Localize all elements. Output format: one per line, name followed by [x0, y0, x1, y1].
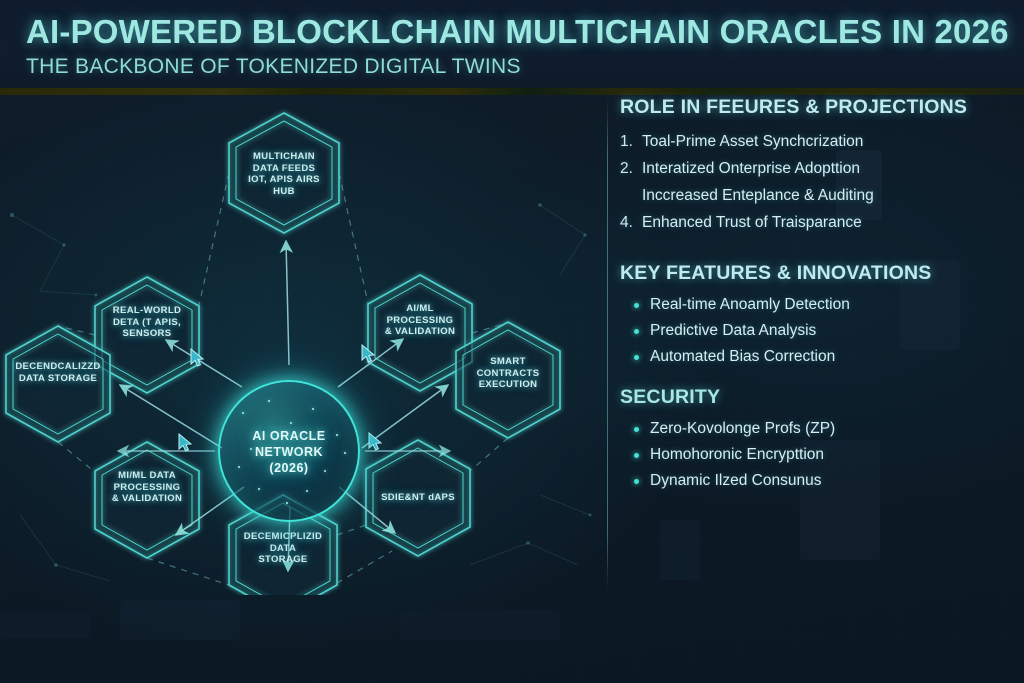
list-item: Zero-Kovolonge Profs (ZP) — [634, 416, 1020, 442]
header-banner: AI-POWERED BLOCKLCHAIN MULTICHAIN ORACLE… — [0, 0, 1024, 90]
panel-divider — [607, 98, 608, 590]
list-item: Real-time Anoamly Detection — [634, 292, 1020, 318]
list-item: Homohoronic Encrypttion — [634, 442, 1020, 468]
list-number: 2. — [620, 155, 642, 182]
list-text: Inccreased Enteplance & Auditing — [642, 187, 874, 204]
hexagon-outlines — [6, 113, 560, 595]
central-oracle-node[interactable]: AI ORACLE NETWORK (2026) — [218, 380, 360, 522]
hex-multichain-data-feeds — [229, 113, 339, 233]
list-text: Interatized Onterprise Adopttion — [642, 160, 860, 177]
security-list: Zero-Kovolonge Profs (ZP) Homohoronic En… — [634, 416, 1020, 494]
dashed-link — [337, 525, 366, 535]
list-text: Enhanced Trust of Traisparance — [642, 214, 862, 231]
hex-sdk-dapps — [366, 440, 470, 556]
page-subtitle: THE BACKBONE OF TOKENIZED DIGITAL TWINS — [26, 55, 1024, 79]
list-text: Toal-Prime Asset Synchcrization — [642, 133, 863, 150]
list-item: 1.Toal-Prime Asset Synchcrization — [620, 128, 1020, 155]
list-item: Predictive Data Analysis — [634, 318, 1020, 344]
header-accent-band — [0, 88, 1024, 95]
dashed-link — [147, 558, 229, 585]
hex-ml-data-processing — [95, 442, 199, 558]
core-label-line: (2026) — [220, 460, 358, 476]
list-number: 4. — [620, 209, 642, 236]
dashed-link — [470, 438, 508, 471]
list-number: 1. — [620, 128, 642, 155]
details-panel: ROLE IN FEEURES & PROJECTIONS 1.Toal-Pri… — [620, 96, 1020, 494]
dashed-link — [339, 173, 368, 303]
connector-core-to-left — [120, 385, 222, 448]
oracle-network-diagram: MULTICHAIN DATA FEEDS IOT, APIS AIRS HUB… — [0, 95, 608, 595]
section-heading-features: KEY FEATURES & INNOVATIONS — [620, 262, 1020, 285]
list-item: 4.Enhanced Trust of Traisparance — [620, 209, 1020, 236]
list-item: Inccreased Enteplance & Auditing — [620, 182, 1020, 209]
connector-core-to-top — [286, 241, 289, 365]
list-item: Automated Bias Correction — [634, 344, 1020, 370]
bg-blotch — [660, 520, 700, 580]
footer: Web3 Ecosystem Projected Market Impact: … — [0, 596, 1024, 683]
dashed-link — [58, 442, 96, 473]
section-heading-role: ROLE IN FEEURES & PROJECTIONS — [620, 96, 1020, 119]
role-list: 1.Toal-Prime Asset Synchcrization 2.Inte… — [620, 128, 1020, 236]
connector-core-to-right — [362, 385, 448, 448]
section-heading-security: SECURITY — [620, 386, 1020, 409]
dashed-link — [199, 173, 229, 305]
infographic-root: AI-POWERED BLOCKLCHAIN MULTICHAIN ORACLE… — [0, 0, 1024, 683]
dashed-link — [337, 551, 392, 583]
list-item: Dynamic Ilzed Consunus — [634, 468, 1020, 494]
core-label-line: AI ORACLE — [220, 428, 358, 444]
core-label: AI ORACLE NETWORK (2026) — [220, 428, 358, 476]
page-title: AI-POWERED BLOCKLCHAIN MULTICHAIN ORACLE… — [26, 14, 1024, 50]
core-label-line: NETWORK — [220, 444, 358, 460]
features-list: Real-time Anoamly Detection Predictive D… — [634, 292, 1020, 370]
list-item: 2.Interatized Onterprise Adopttion — [620, 155, 1020, 182]
